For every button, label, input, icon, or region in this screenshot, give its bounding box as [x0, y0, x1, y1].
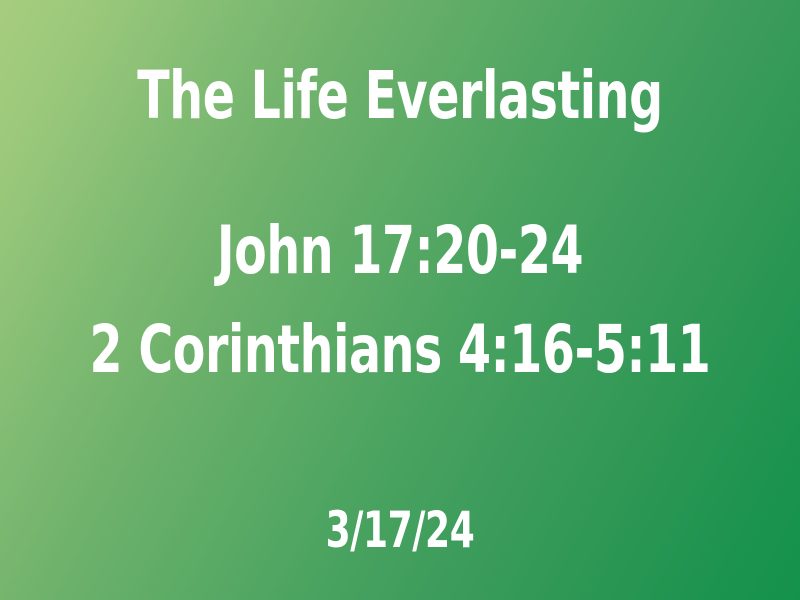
scripture-reference-secondary: 2 Corinthians 4:16-5:11 [80, 317, 720, 383]
slide-date: 3/17/24 [80, 505, 720, 555]
scripture-reference-primary: John 17:20-24 [80, 218, 720, 284]
page-title: The Life Everlasting [80, 63, 720, 129]
slide-text-layer: The Life Everlasting John 17:20-24 2 Cor… [0, 0, 800, 600]
sermon-title-slide: The Life Everlasting John 17:20-24 2 Cor… [0, 0, 800, 600]
